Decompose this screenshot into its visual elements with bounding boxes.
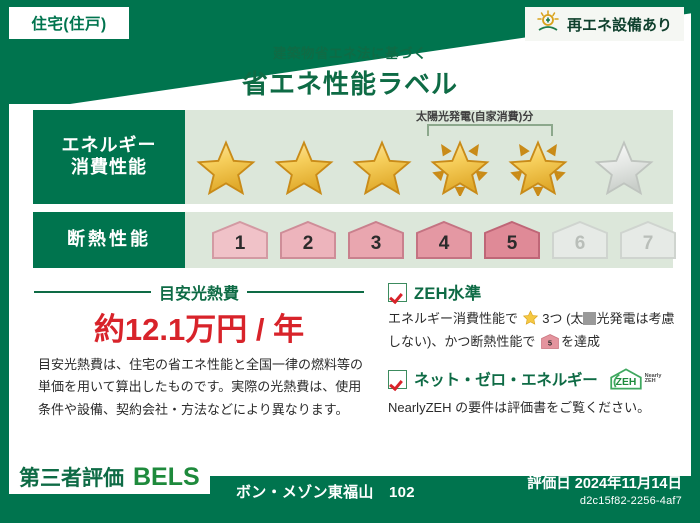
insulation-grade-badge: 3: [347, 220, 405, 260]
bels-en-label: BELS: [133, 463, 200, 492]
zeh-standard-title: ZEH水準: [414, 280, 482, 304]
svg-text:ZEH: ZEH: [615, 377, 636, 388]
zeh-desc-part3: を達成: [561, 334, 600, 349]
checkmark-icon: [388, 283, 407, 302]
insulation-grade-value: 5: [483, 233, 541, 255]
net-zero-energy-item: ネット・ゼロ・エネルギー ZEH Nearly ZEH: [388, 367, 680, 391]
zeh-house-logo: ZEH Nearly ZEH: [609, 367, 662, 391]
main-content: 太陽光発電(自家消費)分 エネルギー 消費性能: [10, 104, 690, 476]
svg-text:5: 5: [548, 339, 552, 348]
insulation-grade-scale: 1 2 3 4 5 6 7: [193, 212, 673, 268]
building-name: ボン・メゾン東福山 102: [236, 481, 415, 502]
title-subtitle: 建築物省エネ法に基づく: [0, 42, 700, 62]
insulation-grade-value: 1: [211, 233, 269, 255]
insulation-grade-badge: 1: [211, 220, 269, 260]
energy-performance-label: エネルギー 消費性能: [33, 110, 185, 204]
heading-rule-right: [247, 291, 364, 293]
housing-type-tag: 住宅(住戸): [9, 7, 129, 39]
solar-sun-icon: [535, 10, 561, 39]
star-filled-icon: [273, 136, 335, 196]
star-filled-icon: [351, 136, 413, 196]
utility-cost-heading-text: 目安光熱費: [159, 280, 239, 304]
zeh-logo-sub2: ZEH: [645, 379, 662, 385]
utility-cost-note: 目安光熱費は、住宅の省エネ性能と全国一律の燃料等の単価を用いて算出したものです。…: [38, 354, 368, 421]
insulation-grade-badge: 6: [551, 220, 609, 260]
star-filled-icon: [429, 136, 491, 196]
solar-annotation-bracket: [427, 124, 553, 136]
insulation-grade-badge: 5: [483, 220, 541, 260]
zeh-standard-description: エネルギー消費性能で 3つ (太光発電は考慮しない)、かつ断熱性能で 5 を達成: [388, 308, 680, 355]
insulation-grade-value: 4: [415, 233, 473, 255]
insulation-grade-value: 7: [619, 233, 677, 255]
insulation-grade-badge: 2: [279, 220, 337, 260]
net-zero-energy-description: NearlyZEH の要件は評価書をご覧ください。: [388, 397, 680, 418]
insulation-grade-badge: 4: [415, 220, 473, 260]
insulation-performance-label: 断熱性能: [33, 212, 185, 268]
heading-rule-left: [34, 291, 151, 293]
insulation-grade-value: 6: [551, 233, 609, 255]
energy-label-line1: エネルギー: [62, 135, 157, 157]
evaluation-info: 評価日 2024年11月14日 d2c15f82-2256-4af7: [527, 472, 682, 507]
insulation-grade-value: 3: [347, 233, 405, 255]
zeh-criteria-block: ZEH水準 エネルギー消費性能で 3つ (太光発電は考慮しない)、かつ断熱性能で…: [388, 280, 680, 418]
checkmark-icon: [388, 370, 407, 389]
star-filled-icon: [195, 136, 257, 196]
star-icon: [523, 310, 538, 331]
renewable-energy-label: 再エネ設備あり: [567, 14, 672, 35]
zeh-desc-part1: エネルギー消費性能で: [388, 311, 518, 326]
insulation-grade-inline-badge: 5: [541, 334, 559, 355]
page-title: 省エネ性能ラベル: [0, 64, 700, 101]
masked-character: [583, 312, 596, 325]
insulation-grade-value: 2: [279, 233, 337, 255]
zeh-standard-item: ZEH水準: [388, 280, 680, 304]
energy-performance-row: エネルギー 消費性能: [33, 110, 673, 204]
star-empty-icon: [593, 136, 655, 196]
utility-cost-value: 約12.1万円 / 年: [34, 304, 364, 349]
insulation-grade-badge: 7: [619, 220, 677, 260]
page-title-block: 建築物省エネ法に基づく 省エネ性能ラベル: [0, 42, 700, 101]
bels-certification-badge: 第三者評価 BELS: [9, 460, 210, 494]
solar-annotation-label: 太陽光発電(自家消費)分: [416, 108, 533, 124]
utility-cost-heading: 目安光熱費: [34, 280, 364, 304]
evaluation-id: d2c15f82-2256-4af7: [527, 495, 682, 507]
housing-type-label: 住宅(住戸): [31, 12, 106, 34]
insulation-label-text: 断熱性能: [67, 229, 151, 251]
bels-jp-label: 第三者評価: [19, 462, 124, 492]
star-filled-icon: [507, 136, 569, 196]
insulation-performance-row: 断熱性能 1 2 3 4 5 6 7: [33, 212, 673, 268]
evaluation-date: 評価日 2024年11月14日: [527, 472, 682, 493]
net-zero-energy-title: ネット・ゼロ・エネルギー: [414, 368, 598, 390]
zeh-desc-starcount: 3つ (太: [542, 311, 583, 326]
energy-label-line2: 消費性能: [71, 157, 147, 179]
renewable-energy-badge: 再エネ設備あり: [525, 7, 684, 41]
